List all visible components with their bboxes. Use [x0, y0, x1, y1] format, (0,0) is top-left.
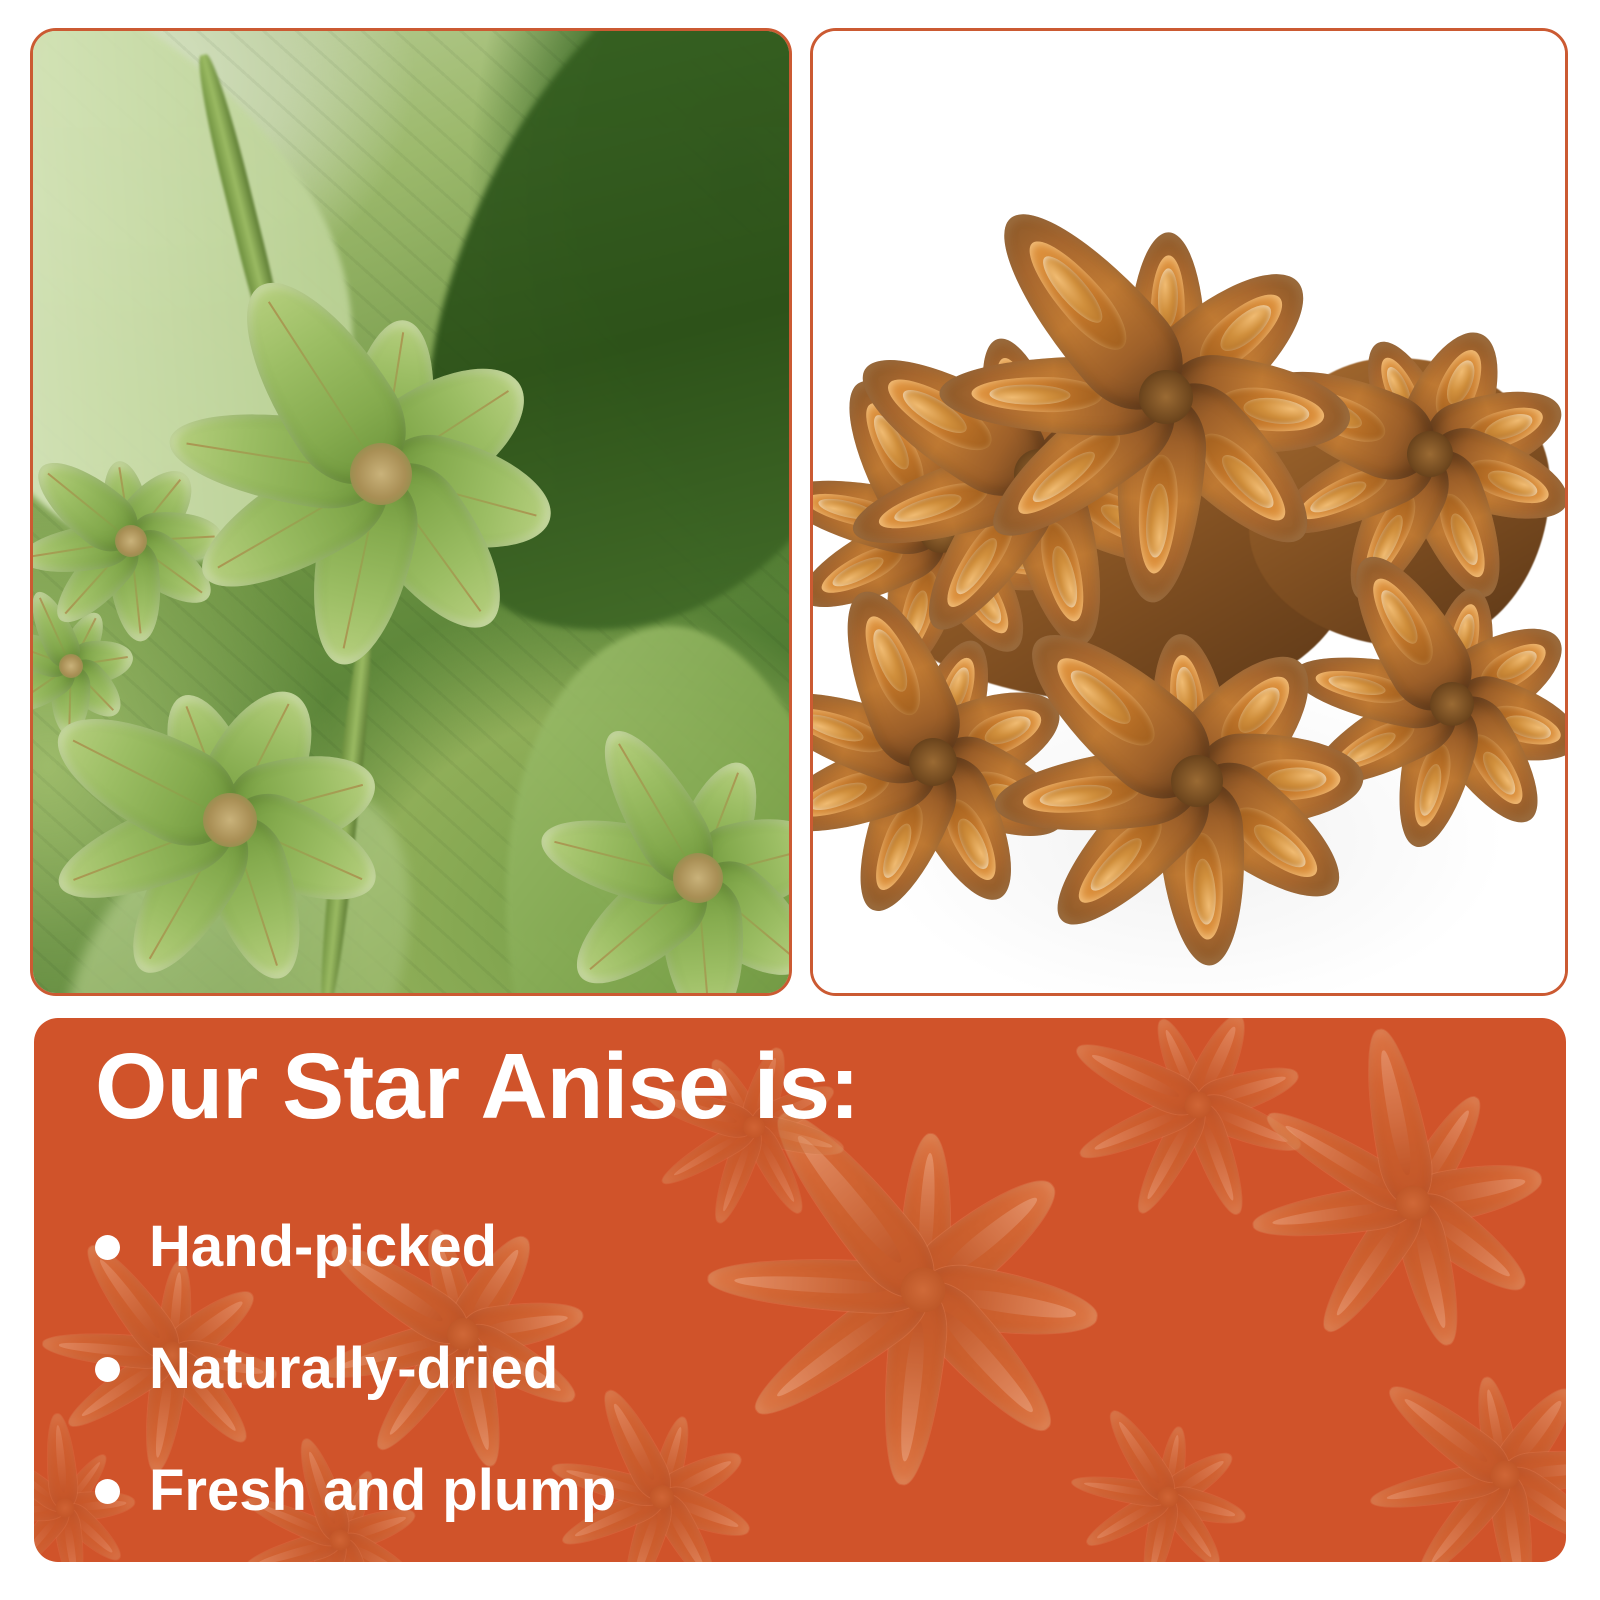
pod-center: [909, 738, 957, 786]
list-item: Naturally-dried: [95, 1340, 558, 1398]
list-item: Hand-picked: [95, 1218, 497, 1276]
bullet-label: Naturally-dried: [149, 1340, 558, 1398]
pod-center: [1139, 370, 1193, 424]
bullet-label: Fresh and plump: [149, 1462, 616, 1520]
list-item: Fresh and plump: [95, 1462, 616, 1520]
pod-center: [1171, 755, 1223, 807]
feature-content: Our Star Anise is: Hand-picked Naturally…: [0, 0, 1600, 1600]
bullet-dot-icon: [95, 1235, 120, 1260]
bullet-dot-icon: [95, 1357, 120, 1382]
pod-center: [350, 443, 412, 505]
bullet-dot-icon: [95, 1479, 120, 1504]
product-infographic: Our Star Anise is: Hand-picked Naturally…: [0, 0, 1600, 1600]
pod-center: [1430, 682, 1474, 726]
bullet-label: Hand-picked: [149, 1218, 497, 1276]
page-title: Our Star Anise is:: [95, 1040, 859, 1133]
